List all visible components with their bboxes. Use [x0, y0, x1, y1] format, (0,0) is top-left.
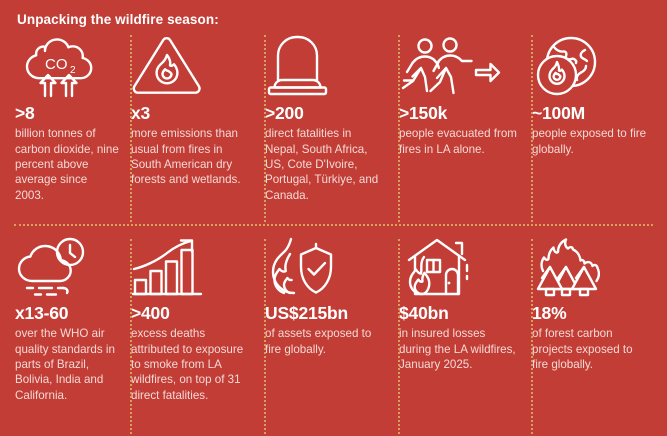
stat-card-insured-losses: $40bn in insured losses during the LA wi…: [399, 237, 532, 436]
stat-card-exposed: ~100M people exposed to fire globally.: [532, 35, 659, 224]
stat-card-excess-deaths: >400 excess deaths attributed to exposur…: [131, 237, 265, 436]
fire-warning-triangle-icon: [131, 35, 253, 97]
stats-grid: CO 2 >8 billion tonnes of carbon dioxide…: [0, 28, 667, 436]
burning-forest-trees-icon: [532, 237, 647, 297]
stats-row-2: x13-60 over the WHO air quality standard…: [0, 226, 667, 436]
stat-card-evacuated: >150k people evacuated from fires in LA …: [399, 35, 532, 224]
burning-house-icon: [399, 237, 520, 297]
co2-cloud-icon: CO 2: [15, 35, 119, 97]
svg-text:CO: CO: [45, 56, 68, 73]
stat-description: more emissions than usual from fires in …: [131, 126, 253, 188]
page-title: Unpacking the wildfire season:: [0, 0, 667, 28]
stat-value: x3: [131, 104, 253, 122]
stat-description: of forest carbon projects exposed to fir…: [532, 326, 647, 372]
stat-description: of assets exposed to fire globally.: [265, 326, 387, 357]
wildfire-season-infographic: Unpacking the wildfire season: CO 2 >8 b…: [0, 0, 667, 436]
stat-value: US$215bn: [265, 304, 387, 322]
stats-row-1: CO 2 >8 billion tonnes of carbon dioxide…: [0, 28, 667, 224]
fire-shield-check-icon: [265, 237, 387, 297]
stat-description: people exposed to fire globally.: [532, 126, 647, 157]
stat-description: people evacuated from fires in LA alone.: [399, 126, 520, 157]
stat-value: 18%: [532, 304, 647, 322]
svg-text:2: 2: [70, 65, 76, 76]
stat-value: >400: [131, 304, 253, 322]
rising-bar-chart-icon: [131, 237, 253, 297]
stat-description: in insured losses during the LA wildfire…: [399, 326, 520, 372]
stat-card-assets: US$215bn of assets exposed to fire globa…: [265, 237, 399, 436]
stat-description: over the WHO air quality standards in pa…: [15, 326, 119, 403]
stat-card-fatalities: >200 direct fatalities in Nepal, South A…: [265, 35, 399, 224]
stat-description: excess deaths attributed to exposure to …: [131, 326, 253, 403]
stat-card-co2: CO 2 >8 billion tonnes of carbon dioxide…: [15, 35, 131, 224]
stat-description: billion tonnes of carbon dioxide, nine p…: [15, 126, 119, 203]
stat-card-air-quality: x13-60 over the WHO air quality standard…: [15, 237, 131, 436]
stat-value: >150k: [399, 104, 520, 122]
stat-value: >8: [15, 104, 119, 122]
evacuation-people-arrow-icon: [399, 35, 520, 97]
stat-card-forest-carbon: 18% of forest carbon projects exposed to…: [532, 237, 659, 436]
stat-value: $40bn: [399, 304, 520, 322]
stat-description: direct fatalities in Nepal, South Africa…: [265, 126, 387, 203]
stat-value: x13-60: [15, 304, 119, 322]
smog-cloud-sun-icon: [15, 237, 119, 297]
gravestone-icon: [265, 35, 387, 97]
globe-fire-icon: [532, 35, 647, 97]
stat-card-emissions: x3 more emissions than usual from fires …: [131, 35, 265, 224]
stat-value: ~100M: [532, 104, 647, 122]
stat-value: >200: [265, 104, 387, 122]
